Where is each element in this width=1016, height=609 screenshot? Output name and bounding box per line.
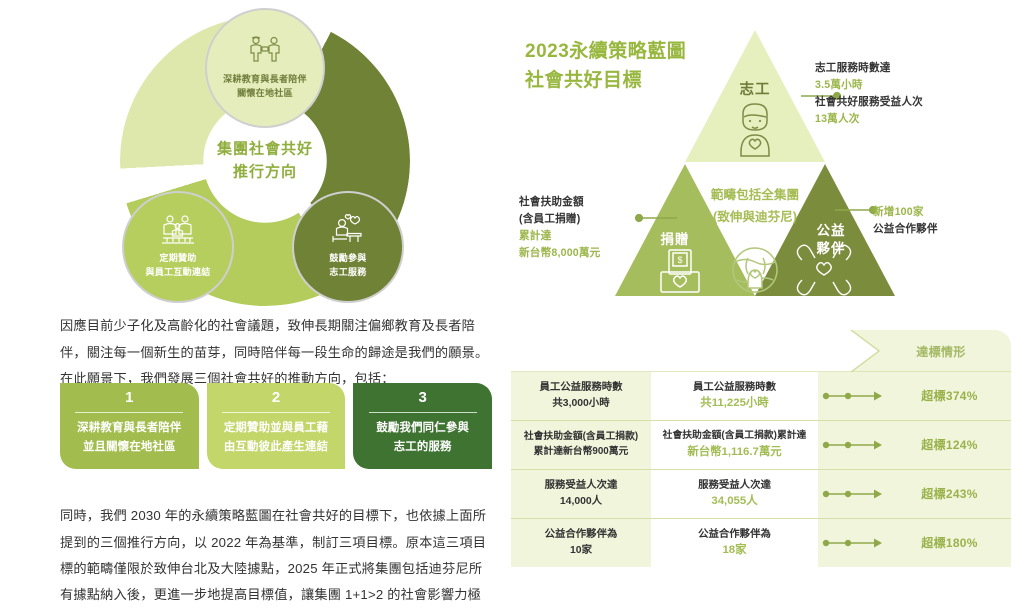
triangle-label-partner-line2: 夥伴 — [795, 240, 867, 258]
card-2-line1: 定期贊助並與員工藉 — [224, 419, 328, 439]
goals-triangle-diagram: $ — [505, 22, 1016, 312]
annotation-volunteer-line1: 志工服務時數達 — [815, 60, 923, 77]
triangle-label-volunteer: 志工 — [710, 78, 800, 99]
page-root: 集團社會共好 推行方向 深耕教育與長者陪伴 關懷在地社區 — [0, 0, 1016, 609]
donut-bubble-right-line2: 志工服務 — [329, 266, 366, 280]
triangle-label-donation: 捐贈 — [640, 228, 710, 248]
direction-card-1[interactable]: 1 深耕教育與長者陪伴 並且關懷在地社區 — [60, 383, 199, 469]
row-1-goal-line1: 員工公益服務時數 — [539, 380, 622, 396]
right-column: 2023永續策略藍圖 社會共好目標 — [505, 0, 1016, 609]
card-3-line1: 鼓勵我們同仁參與 — [376, 419, 469, 439]
annotation-donation: 社會扶助金額 (含員工捐贈) 累計達 新台幣8,000萬元 — [519, 194, 600, 263]
annotation-volunteer-line2: 3.5萬小時 — [815, 77, 923, 94]
card-3-line2: 志工的服務 — [394, 438, 452, 458]
row-2-goal-line1: 社會扶助金額(含員工捐款) — [524, 430, 638, 445]
annotation-donation-line2: (含員工捐贈) — [519, 211, 600, 228]
row-3-arrow-cell — [818, 470, 888, 518]
row-3-status-cell: 超標243% — [888, 470, 1011, 518]
row-2-arrow-cell — [818, 421, 888, 469]
row-1-performance-cell: 員工公益服務時數 共11,225小時 — [651, 372, 818, 420]
annotation-volunteer-line4: 13萬人次 — [815, 111, 923, 128]
card-3-number: 3 — [419, 390, 427, 407]
row-3-goal-line1: 服務受益人次達 — [545, 478, 618, 494]
direction-card-3[interactable]: 3 鼓勵我們同仁參與 志工的服務 — [353, 383, 492, 469]
row-separator — [511, 420, 1011, 421]
donut-center-line1: 集團社會共好 — [185, 139, 345, 162]
row-4-status-cell: 超標180% — [888, 519, 1011, 567]
card-1-line1: 深耕教育與長者陪伴 — [77, 419, 181, 439]
direction-cards: 1 深耕教育與長者陪伴 並且關懷在地社區 2 定期贊助並與員工藉 由互動彼此產生… — [60, 383, 492, 469]
triangle-scope-note: 範疇包括全集團 (致伸與迪芬尼) — [675, 184, 835, 228]
card-2-divider — [222, 412, 330, 413]
annotation-partner-line1: 新增100家 — [873, 204, 938, 221]
donut-bubble-right-line1: 鼓勵參與 — [329, 252, 366, 266]
row-2-perf-line2: 新台幣1,116.7萬元 — [687, 444, 781, 461]
annotation-donation-line4: 新台幣8,000萬元 — [519, 245, 600, 262]
svg-text:$: $ — [677, 255, 682, 265]
row-3-perf-line2: 34,055人 — [711, 493, 757, 510]
row-3-performance-cell: 服務受益人次達 34,055人 — [651, 470, 818, 518]
card-1-divider — [75, 412, 183, 413]
row-3-goal-line2: 14,000人 — [560, 494, 602, 510]
row-1-status-cell: 超標374% — [888, 372, 1011, 420]
annotation-donation-line1: 社會扶助金額 — [519, 194, 600, 211]
table-row: 服務受益人次達 14,000人 服務受益人次達 34,055人 超標243% — [511, 470, 1011, 518]
donut-bubble-education-elder[interactable]: 深耕教育與長者陪伴 關懷在地社區 — [205, 8, 325, 128]
annotation-partner: 新增100家 公益合作夥伴 — [873, 204, 938, 238]
annotation-partner-line2: 公益合作夥伴 — [873, 221, 938, 238]
table-row: 社會扶助金額(含員工捐款) 累計達新台幣900萬元 社會扶助金額(含員工捐款)累… — [511, 421, 1011, 469]
triangle-scope-line1: 範疇包括全集團 — [675, 184, 835, 206]
row-separator — [511, 518, 1011, 519]
row-4-performance-cell: 公益合作夥伴為 18家 — [651, 519, 818, 567]
volunteer-serving-icon — [328, 214, 368, 249]
row-2-goal-line2: 累計達新台幣900萬元 — [534, 445, 629, 460]
donut-bubble-top-line1: 深耕教育與長者陪伴 — [223, 73, 307, 87]
donut-center-label: 集團社會共好 推行方向 — [185, 139, 345, 184]
row-1-perf-line2: 共11,225小時 — [700, 395, 768, 412]
donut-bubble-sponsorship[interactable]: 定期贊助 與員工互動連結 — [122, 191, 234, 303]
elder-care-icon — [245, 35, 285, 70]
donut-bubble-top-line2: 關懷在地社區 — [237, 87, 293, 101]
donut-center-line2: 推行方向 — [185, 161, 345, 184]
card-3-divider — [369, 412, 477, 413]
intro-paragraph: 因應目前少子化及高齡化的社會議題，致伸長期關注偏鄉教育及長者陪伴，關注每一個新生… — [60, 313, 490, 392]
row-2-perf-line1: 社會扶助金額(含員工捐款)累計達 — [663, 429, 807, 444]
triangle-scope-line2: (致伸與迪芬尼) — [675, 206, 835, 228]
card-1-number: 1 — [125, 390, 133, 407]
row-4-perf-line1: 公益合作夥伴為 — [698, 527, 771, 543]
row-1-perf-line1: 員工公益服務時數 — [693, 380, 776, 396]
row-1-arrow-cell — [818, 372, 888, 420]
row-1-goal-cell: 員工公益服務時數 共3,000小時 — [511, 372, 651, 420]
card-2-number: 2 — [272, 390, 280, 407]
donut-bubble-volunteer[interactable]: 鼓勵參與 志工服務 — [292, 191, 404, 303]
row-2-status-cell: 超標124% — [888, 421, 1011, 469]
row-4-arrow-cell — [818, 519, 888, 567]
row-4-goal-line2: 10家 — [570, 543, 592, 559]
row-3-goal-cell: 服務受益人次達 14,000人 — [511, 470, 651, 518]
row-separator — [511, 469, 1011, 470]
progress-arrow-icon — [822, 488, 884, 500]
donut-bubble-left-line2: 與員工互動連結 — [145, 266, 210, 280]
sponsorship-people-icon — [159, 214, 197, 249]
row-4-perf-line2: 18家 — [722, 542, 746, 559]
table-header-shape — [511, 330, 1011, 372]
card-2-line2: 由互動彼此產生連結 — [224, 438, 328, 458]
donut-bubble-left-line1: 定期贊助 — [159, 252, 196, 266]
progress-arrow-icon — [822, 439, 884, 451]
annotation-volunteer: 志工服務時數達 3.5萬小時 社會共好服務受益人次 13萬人次 — [815, 60, 923, 129]
annotation-volunteer-line3: 社會共好服務受益人次 — [815, 94, 923, 111]
annotation-donation-line3: 累計達 — [519, 228, 600, 245]
direction-card-2[interactable]: 2 定期贊助並與員工藉 由互動彼此產生連結 — [207, 383, 346, 469]
row-3-perf-line1: 服務受益人次達 — [698, 478, 771, 494]
social-directions-donut-diagram: 集團社會共好 推行方向 深耕教育與長者陪伴 關懷在地社區 — [120, 16, 410, 306]
progress-arrow-icon — [822, 390, 884, 402]
row-2-goal-cell: 社會扶助金額(含員工捐款) 累計達新台幣900萬元 — [511, 421, 651, 469]
table-row: 員工公益服務時數 共3,000小時 員工公益服務時數 共11,225小時 超標3… — [511, 372, 1011, 420]
table-row: 公益合作夥伴為 10家 公益合作夥伴為 18家 超標180% — [511, 519, 1011, 567]
row-2-performance-cell: 社會扶助金額(含員工捐款)累計達 新台幣1,116.7萬元 — [651, 421, 818, 469]
left-column: 集團社會共好 推行方向 深耕教育與長者陪伴 關懷在地社區 — [0, 0, 505, 609]
row-4-goal-line1: 公益合作夥伴為 — [545, 527, 618, 543]
card-1-line2: 並且關懷在地社區 — [83, 438, 176, 458]
goal-performance-table: 2024年社會共好目標 執行績效 達標情形 員工公益服務時數 共3,000小時 … — [511, 330, 1011, 566]
progress-arrow-icon — [822, 537, 884, 549]
row-4-goal-cell: 公益合作夥伴為 10家 — [511, 519, 651, 567]
outro-paragraph: 同時，我們 2030 年的永續策略藍圖在社會共好的目標下，也依據上面所提到的三個… — [60, 503, 490, 609]
row-1-goal-line2: 共3,000小時 — [552, 396, 609, 412]
